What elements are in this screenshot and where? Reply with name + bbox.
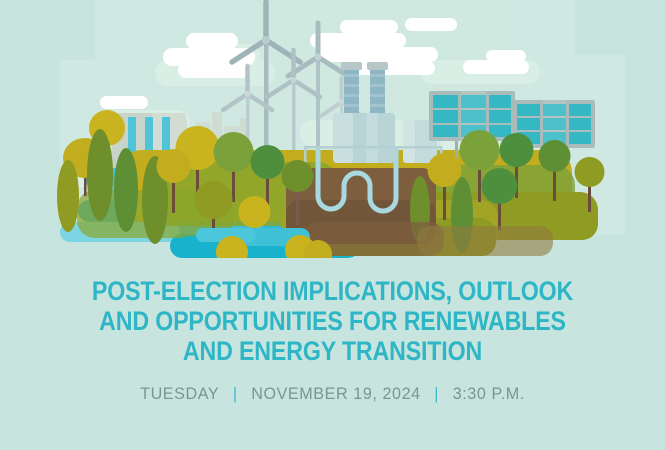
event-time: 3:30 P.M.	[453, 384, 525, 404]
event-title-line-3: AND ENERGY TRANSITION	[47, 336, 619, 366]
details-separator-1: |	[224, 384, 246, 404]
event-title-line-2: AND OPPORTUNITIES FOR RENEWABLES	[47, 306, 619, 336]
event-day: TUESDAY	[140, 384, 219, 404]
tree-conifer	[114, 148, 138, 232]
renewable-energy-landscape-illustration	[0, 0, 665, 270]
event-poster: POST-ELECTION IMPLICATIONS, OUTLOOK AND …	[0, 0, 665, 450]
event-details: TUESDAY | NOVEMBER 19, 2024 | 3:30 P.M.	[17, 384, 649, 404]
details-separator-2: |	[426, 384, 448, 404]
bottom-mask	[0, 258, 665, 270]
foreground-soil	[304, 222, 553, 256]
tree-conifer	[57, 160, 79, 232]
event-date: NOVEMBER 19, 2024	[251, 384, 420, 404]
event-title-line-1: POST-ELECTION IMPLICATIONS, OUTLOOK	[47, 276, 619, 306]
event-text-block: POST-ELECTION IMPLICATIONS, OUTLOOK AND …	[0, 276, 665, 404]
tree-conifer	[87, 129, 113, 221]
